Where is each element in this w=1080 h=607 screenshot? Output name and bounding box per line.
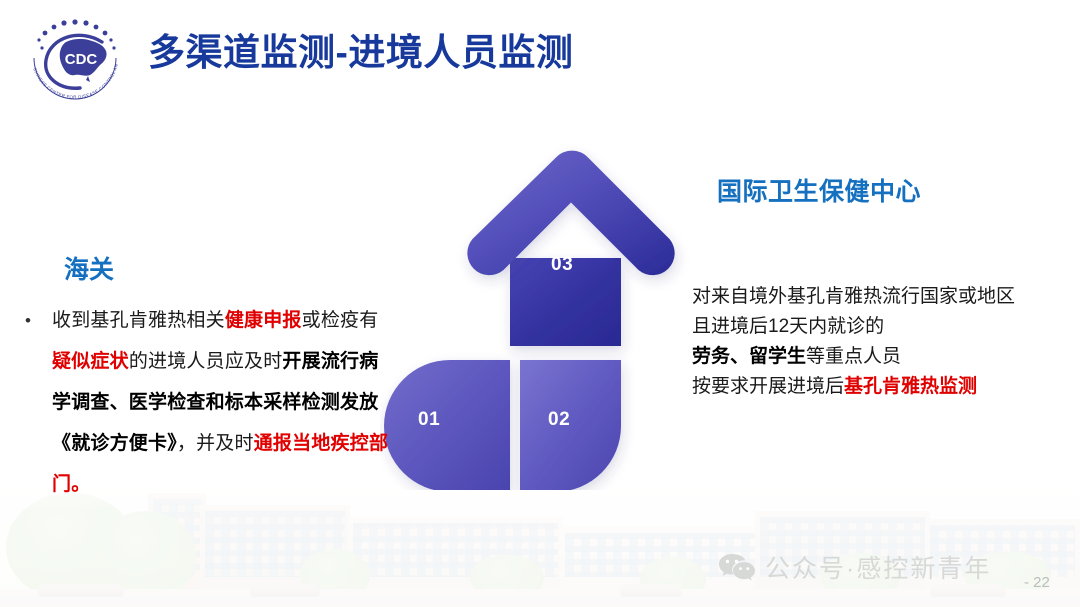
bullet-item: • 收到基孔肯雅热相关健康申报或检疫有疑似症状的进境人员应及时开展流行病学调查、… xyxy=(22,300,394,505)
window-grid xyxy=(205,511,345,577)
right-text-3-run-1: 基孔肯雅热监测 xyxy=(844,376,977,397)
step-number-02: 02 xyxy=(548,409,570,431)
car-shape xyxy=(38,584,124,597)
left-text-run-6: ，并及时 xyxy=(177,433,254,454)
window-grid xyxy=(353,523,558,577)
tree-shape xyxy=(6,493,136,601)
wechat-icon xyxy=(718,552,756,582)
left-section-body: • 收到基孔肯雅热相关健康申报或检疫有疑似症状的进境人员应及时开展流行病学调查、… xyxy=(22,300,394,505)
right-text-line-0: 对来自境外基孔肯雅热流行国家或地区 xyxy=(692,282,1080,312)
svg-text:CDC: CDC xyxy=(65,51,98,68)
step-number-01: 01 xyxy=(418,409,440,431)
right-text-3-run-0: 按要求开展进境后 xyxy=(692,376,844,397)
right-text-line-3: 按要求开展进境后基孔肯雅热监测 xyxy=(692,372,1080,402)
left-text-run-4: 的进境人员应及时 xyxy=(129,351,283,372)
slide-canvas: CDC CHINESE CENTER FOR DISEASE CONTROL A… xyxy=(0,0,1080,607)
building-block xyxy=(348,517,563,593)
bullet-paragraph: 收到基孔肯雅热相关健康申报或检疫有疑似症状的进境人员应及时开展流行病学调查、医学… xyxy=(52,300,394,505)
process-arrow-diagram xyxy=(380,140,690,490)
right-text-line-2: 劳务、留学生等重点人员 xyxy=(692,342,1080,372)
tree-shape xyxy=(470,555,544,601)
left-section-heading: 海关 xyxy=(64,250,114,286)
china-cdc-logo-icon: CDC CHINESE CENTER FOR DISEASE CONTROL A… xyxy=(14,12,136,104)
car-shape xyxy=(930,584,1006,597)
right-section-heading: 国际卫生保健中心 xyxy=(717,172,921,208)
window-grid xyxy=(153,499,201,577)
watermark-text: 公众号·感控新青年 xyxy=(765,549,991,585)
right-text-2-run-1: 等重点人员 xyxy=(806,346,901,367)
right-text-2-run-0: 劳务、留学生 xyxy=(692,346,806,367)
building-block xyxy=(200,505,350,593)
step-number-03: 03 xyxy=(551,254,573,276)
road-shape xyxy=(0,589,1080,607)
left-text-run-3: 疑似症状 xyxy=(52,351,129,372)
tree-shape xyxy=(300,549,370,601)
left-text-run-1: 健康申报 xyxy=(225,310,302,331)
page-title: 多渠道监测-进境人员监测 xyxy=(148,33,573,74)
slide-header: CDC CHINESE CENTER FOR DISEASE CONTROL A… xyxy=(0,0,1080,110)
page-number: - 22 xyxy=(1024,574,1050,591)
right-section-body: 对来自境外基孔肯雅热流行国家或地区且进境后12天内就诊的劳务、留学生等重点人员按… xyxy=(692,282,1080,402)
block-02 xyxy=(520,360,621,490)
wechat-watermark: 公众号·感控新青年 xyxy=(718,549,991,585)
building-block xyxy=(148,493,206,593)
right-text-1-run-0: 且进境后12天内就诊的 xyxy=(692,316,884,337)
right-text-line-1: 且进境后12天内就诊的 xyxy=(692,312,1080,342)
tree-shape xyxy=(96,511,196,601)
left-text-run-2: 或检疫有 xyxy=(302,310,379,331)
car-shape xyxy=(620,584,682,597)
right-text-0-run-0: 对来自境外基孔肯雅热流行国家或地区 xyxy=(692,286,1015,307)
car-shape xyxy=(250,584,320,597)
tree-shape xyxy=(640,557,706,601)
bullet-marker: • xyxy=(22,300,52,341)
block-01 xyxy=(384,360,510,490)
left-text-run-0: 收到基孔肯雅热相关 xyxy=(52,310,225,331)
